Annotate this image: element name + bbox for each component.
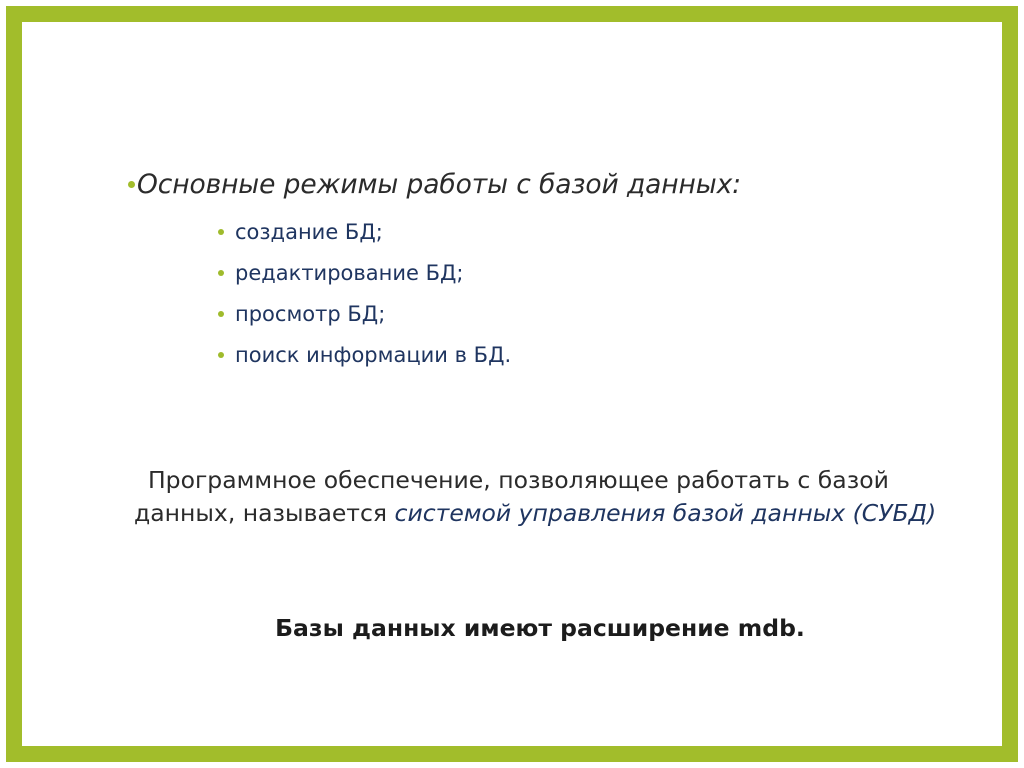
heading-row: Основные режимы работы с базой данных:: [128, 170, 741, 199]
bullet-marker-icon: [218, 229, 224, 235]
list-item: создание БД;: [218, 220, 511, 261]
paragraph-emphasis-text: системой управления базой данных (СУБД): [395, 499, 937, 527]
bullet-marker-icon: [128, 181, 135, 188]
slide-canvas: Основные режимы работы с базой данных: с…: [22, 22, 1002, 746]
closing-statement: Базы данных имеют расширение mdb.: [22, 614, 1002, 642]
bullet-marker-icon: [218, 311, 224, 317]
list-item-label: просмотр БД;: [235, 302, 385, 326]
list-item: поиск информации в БД.: [218, 343, 511, 384]
bullet-marker-icon: [218, 352, 224, 358]
slide: Основные режимы работы с базой данных: с…: [0, 0, 1024, 768]
slide-border-frame: Основные режимы работы с базой данных: с…: [6, 6, 1018, 762]
list-item: просмотр БД;: [218, 302, 511, 343]
list-item: редактирование БД;: [218, 261, 511, 302]
bullet-marker-icon: [218, 270, 224, 276]
body-paragraph: Программное обеспечение, позволяющее раб…: [134, 464, 962, 531]
list-item-label: редактирование БД;: [235, 261, 464, 285]
sub-bullet-list: создание БД; редактирование БД; просмотр…: [218, 220, 511, 384]
list-item-label: поиск информации в БД.: [235, 343, 511, 367]
page-title: Основные режимы работы с базой данных:: [137, 170, 741, 199]
list-item-label: создание БД;: [235, 220, 383, 244]
